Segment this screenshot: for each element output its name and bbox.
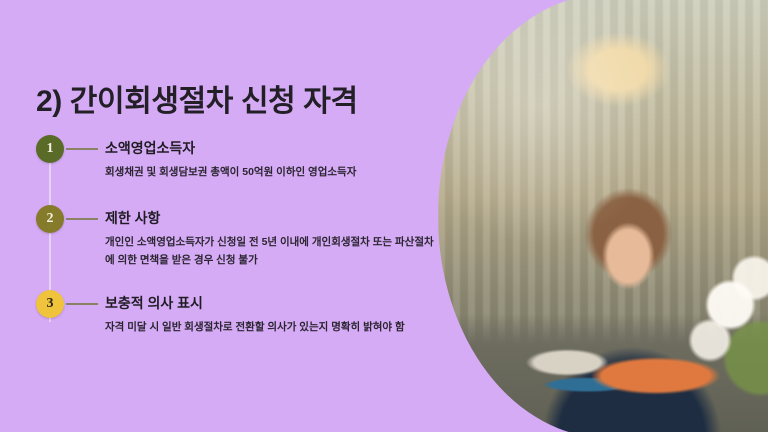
page-title: 2) 간이회생절차 신청 자격 <box>36 76 358 120</box>
slide: 2) 간이회생절차 신청 자격 1 소액영업소득자 회생채권 및 회생담보권 총… <box>0 0 768 432</box>
timeline-body-3: 자격 미달 시 일반 회생절차로 전환할 의사가 있는지 명확히 밝혀야 함 <box>105 318 435 336</box>
photo-panel <box>438 0 768 432</box>
timeline-connector-3 <box>66 303 98 305</box>
timeline-body-1: 회생채권 및 회생담보권 총액이 50억원 이하인 영업소득자 <box>105 163 435 181</box>
timeline-heading-3: 보충적 의사 표시 <box>105 293 203 313</box>
photo-curved-mask <box>438 0 768 432</box>
timeline-badge-1: 1 <box>36 135 64 163</box>
timeline-heading-1: 소액영업소득자 <box>105 138 195 158</box>
timeline-body-2: 개인인 소액영업소득자가 신청일 전 5년 이내에 개인회생절차 또는 파산절차… <box>105 233 435 270</box>
timeline-heading-2: 제한 사항 <box>105 208 160 228</box>
photo-light-overlay <box>438 0 768 432</box>
timeline-badge-2: 2 <box>36 205 64 233</box>
timeline-badge-3: 3 <box>36 290 64 318</box>
timeline-connector-1 <box>66 148 98 150</box>
timeline-connector-2 <box>66 218 98 220</box>
